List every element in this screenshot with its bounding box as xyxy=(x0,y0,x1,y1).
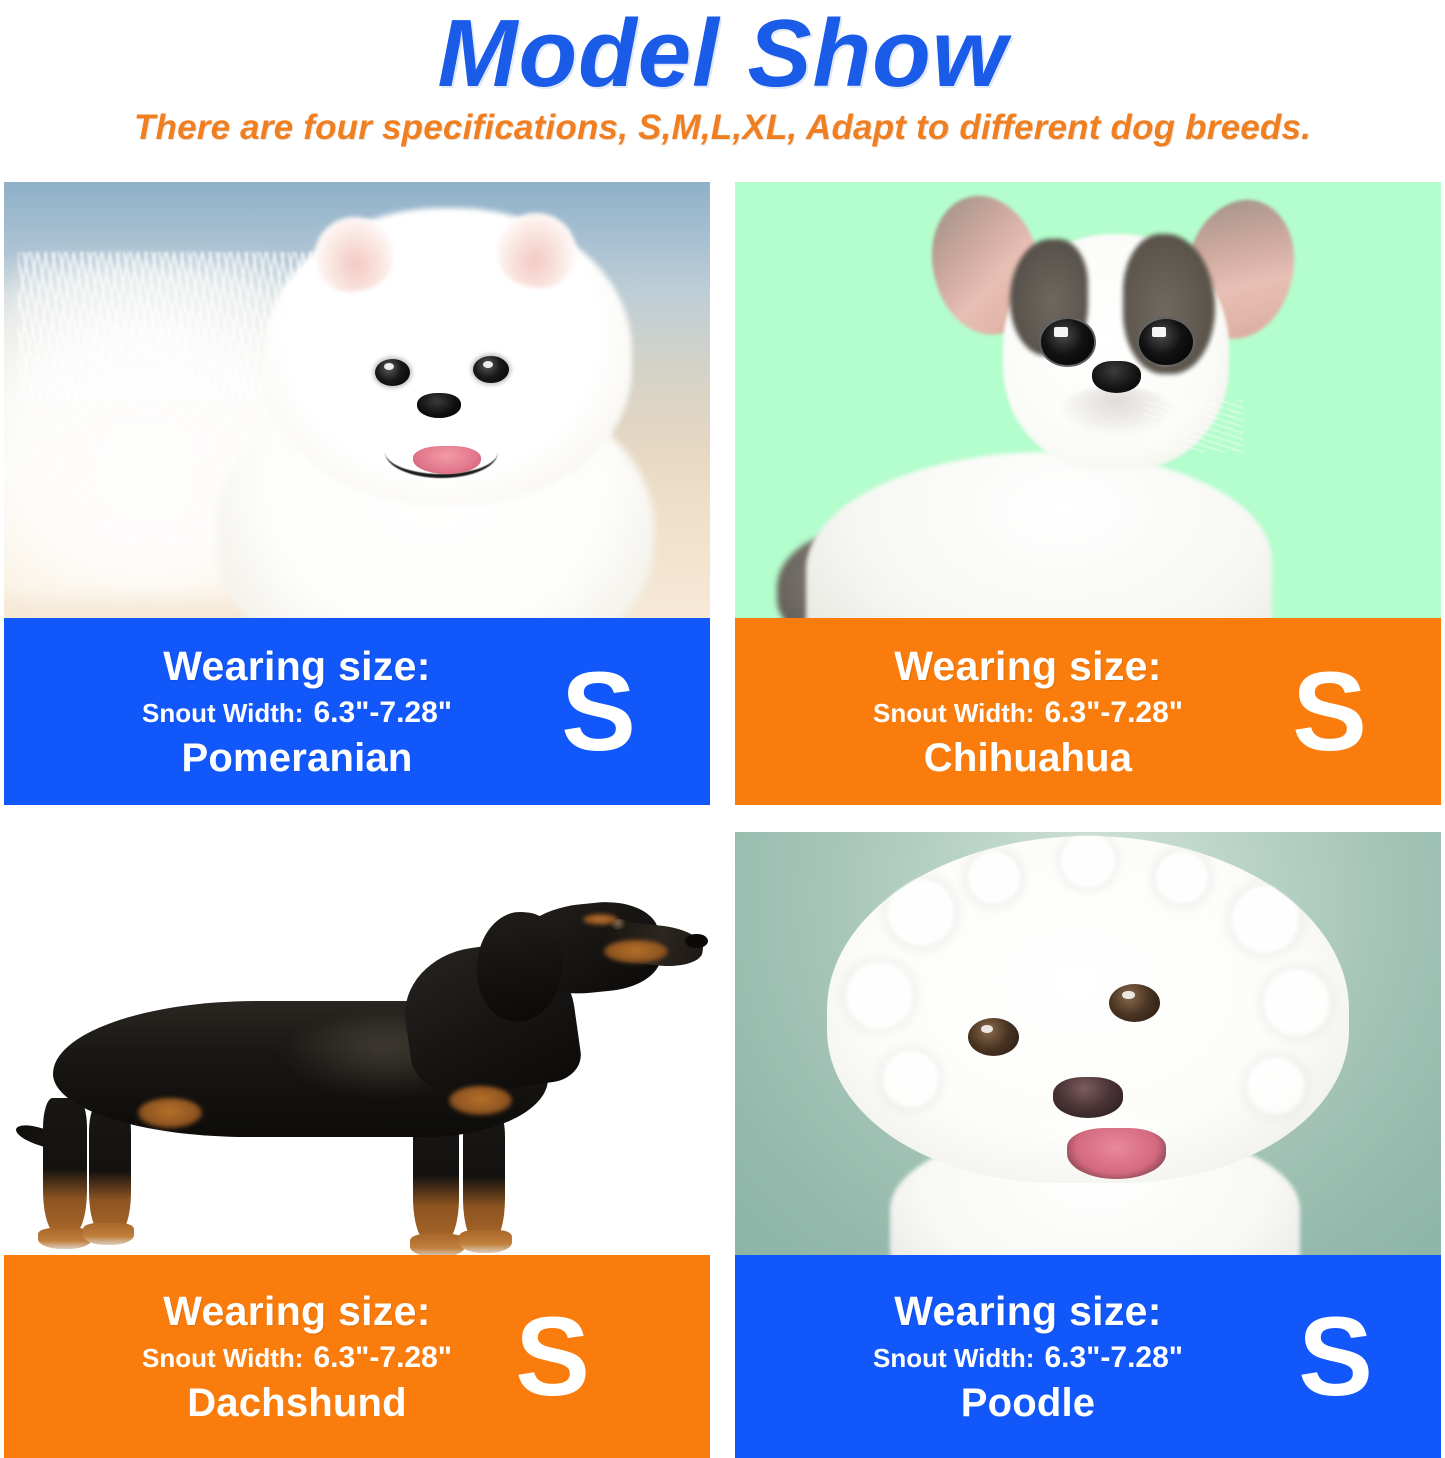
snout-width-row: Snout Width:6.3"-7.28" xyxy=(142,696,452,730)
dog-nose xyxy=(685,934,708,948)
dog-mouth xyxy=(1067,1128,1166,1179)
size-info-band: Wearing size: Snout Width:6.3"-7.28" Poo… xyxy=(735,1255,1441,1458)
breed-card-dachshund[interactable]: Wearing size: Snout Width:6.3"-7.28" Dac… xyxy=(4,832,710,1458)
pomeranian-photo xyxy=(4,182,710,618)
dog-whiskers xyxy=(1144,400,1243,452)
snout-width-row: Snout Width:6.3"-7.28" xyxy=(873,696,1183,730)
snout-width-row: Snout Width:6.3"-7.28" xyxy=(873,1341,1183,1375)
size-badge: S xyxy=(1298,1301,1373,1413)
dog-paw xyxy=(410,1234,465,1255)
breed-name: Pomeranian xyxy=(182,734,413,782)
breed-name: Chihuahua xyxy=(924,734,1132,782)
size-info-text: Wearing size: Snout Width:6.3"-7.28" Poo… xyxy=(735,1255,1281,1458)
size-badge: S xyxy=(561,656,636,768)
breed-card-poodle[interactable]: Wearing size: Snout Width:6.3"-7.28" Poo… xyxy=(735,832,1441,1458)
snout-width-row: Snout Width:6.3"-7.28" xyxy=(142,1341,452,1375)
size-info-text: Wearing size: Snout Width:6.3"-7.28" Pom… xyxy=(4,618,550,805)
eye-glint xyxy=(384,363,394,370)
wearing-size-label: Wearing size: xyxy=(163,642,430,690)
snout-width-value: 6.3"-7.28" xyxy=(1044,1341,1183,1374)
dog-nose xyxy=(417,393,461,417)
tan-marking-cheek xyxy=(604,940,668,963)
size-badge: S xyxy=(515,1301,590,1413)
size-info-band: Wearing size: Snout Width:6.3"-7.28" Chi… xyxy=(735,618,1441,805)
page-title: Model Show xyxy=(0,2,1445,106)
snout-width-label: Snout Width: xyxy=(873,698,1034,728)
dog-leg-back-left xyxy=(43,1098,87,1233)
breed-card-pomeranian[interactable]: Wearing size: Snout Width:6.3"-7.28" Pom… xyxy=(4,182,710,805)
breed-card-chihuahua[interactable]: Wearing size: Snout Width:6.3"-7.28" Chi… xyxy=(735,182,1441,805)
breed-card-grid: Wearing size: Snout Width:6.3"-7.28" Pom… xyxy=(0,182,1445,1458)
snout-width-label: Snout Width: xyxy=(142,1343,303,1373)
chihuahua-photo xyxy=(735,182,1441,618)
dog-tongue xyxy=(413,446,480,474)
eye-glint xyxy=(1152,327,1166,337)
eye-glint xyxy=(1122,991,1134,999)
size-info-text: Wearing size: Snout Width:6.3"-7.28" Dac… xyxy=(4,1255,550,1458)
wearing-size-label: Wearing size: xyxy=(894,642,1161,690)
snout-width-label: Snout Width: xyxy=(873,1343,1034,1373)
snout-width-value: 6.3"-7.28" xyxy=(313,696,452,729)
size-badge: S xyxy=(1292,656,1367,768)
breed-name: Dachshund xyxy=(187,1379,407,1427)
snout-width-value: 6.3"-7.28" xyxy=(313,1341,452,1374)
poodle-photo xyxy=(735,832,1441,1255)
eye-glint xyxy=(1054,327,1068,337)
snout-width-label: Snout Width: xyxy=(142,698,303,728)
size-info-band: Wearing size: Snout Width:6.3"-7.28" Dac… xyxy=(4,1255,710,1458)
dog-eye-left xyxy=(968,1018,1019,1056)
breed-name: Poodle xyxy=(961,1379,1096,1427)
wearing-size-label: Wearing size: xyxy=(163,1287,430,1335)
eye-glint xyxy=(981,1025,993,1033)
header-block: Model Show There are four specifications… xyxy=(0,0,1445,148)
eye-glint xyxy=(483,361,493,368)
size-info-text: Wearing size: Snout Width:6.3"-7.28" Chi… xyxy=(735,618,1281,805)
page-subtitle: There are four specifications, S,M,L,XL,… xyxy=(0,108,1445,148)
dachshund-photo xyxy=(4,832,710,1255)
snout-width-value: 6.3"-7.28" xyxy=(1044,696,1183,729)
dog-paw xyxy=(459,1230,511,1253)
dog-eye-left xyxy=(375,359,410,386)
size-info-band: Wearing size: Snout Width:6.3"-7.28" Pom… xyxy=(4,618,710,805)
dog-nose xyxy=(1053,1077,1124,1117)
dog-paw xyxy=(83,1223,134,1245)
tan-marking-shoulder xyxy=(138,1098,202,1128)
wearing-size-label: Wearing size: xyxy=(894,1287,1161,1335)
